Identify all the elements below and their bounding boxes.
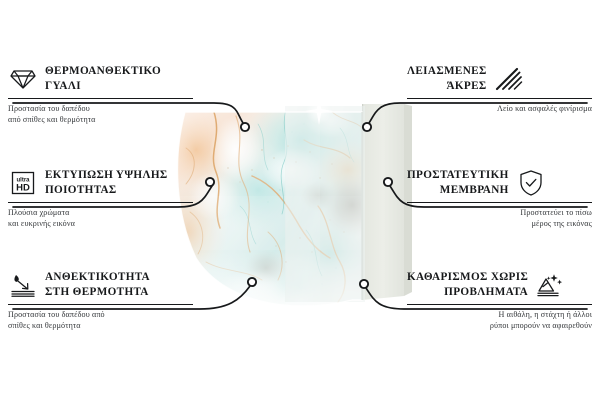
feature-heat-resistant-glass: ΘΕΡΜΟΑΝΘΕΚΤΙΚΟ ΓΥΑΛΙ Προστασία του δαπέδ…	[8, 62, 193, 126]
feature-title: ΚΑΘΑΡΙΣΜΟΣ ΧΩΡΙΣ ΠΡΟΒΛΗΜΑΤΑ	[407, 270, 528, 300]
feature-easy-cleaning: ΚΑΘΑΡΙΣΜΟΣ ΧΩΡΙΣ ΠΡΟΒΛΗΜΑΤΑ Η αιθάλη, η …	[407, 268, 592, 332]
feature-title: ΘΕΡΜΟΑΝΘΕΚΤΙΚΟ ΓΥΑΛΙ	[45, 64, 161, 94]
smooth-edges-icon	[494, 64, 524, 94]
feature-title: ΑΝΘΕΚΤΙΚΟΤΗΤΑ ΣΤΗ ΘΕΡΜΟΤΗΤΑ	[45, 270, 150, 300]
feature-rule	[407, 202, 592, 203]
feature-protective-membrane: ΠΡΟΣΤΑΤΕΥΤΙΚΗ ΜΕΜΒΡΑΝΗ Προστατεύει το πί…	[407, 166, 592, 230]
feature-rule	[407, 98, 592, 99]
feature-description: Πλούσια χρώματα και ευκρινής εικόνα	[8, 207, 193, 230]
heat-resistance-icon	[8, 270, 38, 300]
feature-title: ΛΕΙΑΣΜΕΝΕΣ ΆΚΡΕΣ	[407, 64, 487, 94]
feature-description: Προστασία του δαπέδου από σπίθες και θερ…	[8, 103, 193, 126]
diamond-icon	[8, 64, 38, 94]
feature-description: Προστασία του δαπέδου από σπίθες και θερ…	[8, 309, 193, 332]
feature-description: Η αιθάλη, η στάχτη ή άλλοι ρύποι μπορούν…	[407, 309, 592, 332]
feature-high-quality-print: ultra HD ΕΚΤΥΠΩΣΗ ΥΨΗΛΗΣ ΠΟΙΟΤΗΤΑΣ Πλούσ…	[8, 166, 193, 230]
back-panel	[362, 104, 412, 300]
feature-title: ΠΡΟΣΤΑΤΕΥΤΙΚΗ ΜΕΜΒΡΑΝΗ	[407, 168, 509, 198]
easy-clean-icon	[535, 270, 565, 300]
infographic-canvas: ΘΕΡΜΟΑΝΘΕΚΤΙΚΟ ΓΥΑΛΙ Προστασία του δαπέδ…	[0, 0, 600, 400]
ultra-hd-bottom-label: HD	[16, 183, 30, 194]
feature-rule	[8, 98, 193, 99]
feature-description: Προστατεύει το πίσω μέρος της εικόνας	[407, 207, 592, 230]
feature-title: ΕΚΤΥΠΩΣΗ ΥΨΗΛΗΣ ΠΟΙΟΤΗΤΑΣ	[45, 168, 168, 198]
feature-rule	[407, 304, 592, 305]
feature-rule	[8, 304, 193, 305]
feature-smooth-edges: ΛΕΙΑΣΜΕΝΕΣ ΆΚΡΕΣ Λείο και ασφαλές φινίρι…	[407, 62, 592, 114]
shield-check-icon	[516, 168, 546, 198]
feature-description: Λείο και ασφαλές φινίρισμα	[407, 103, 592, 114]
ultra-hd-icon: ultra HD	[8, 168, 38, 198]
feature-rule	[8, 202, 193, 203]
glass-overlap	[285, 106, 365, 302]
feature-heat-durability: ΑΝΘΕΚΤΙΚΟΤΗΤΑ ΣΤΗ ΘΕΡΜΟΤΗΤΑ Προστασία το…	[8, 268, 193, 332]
